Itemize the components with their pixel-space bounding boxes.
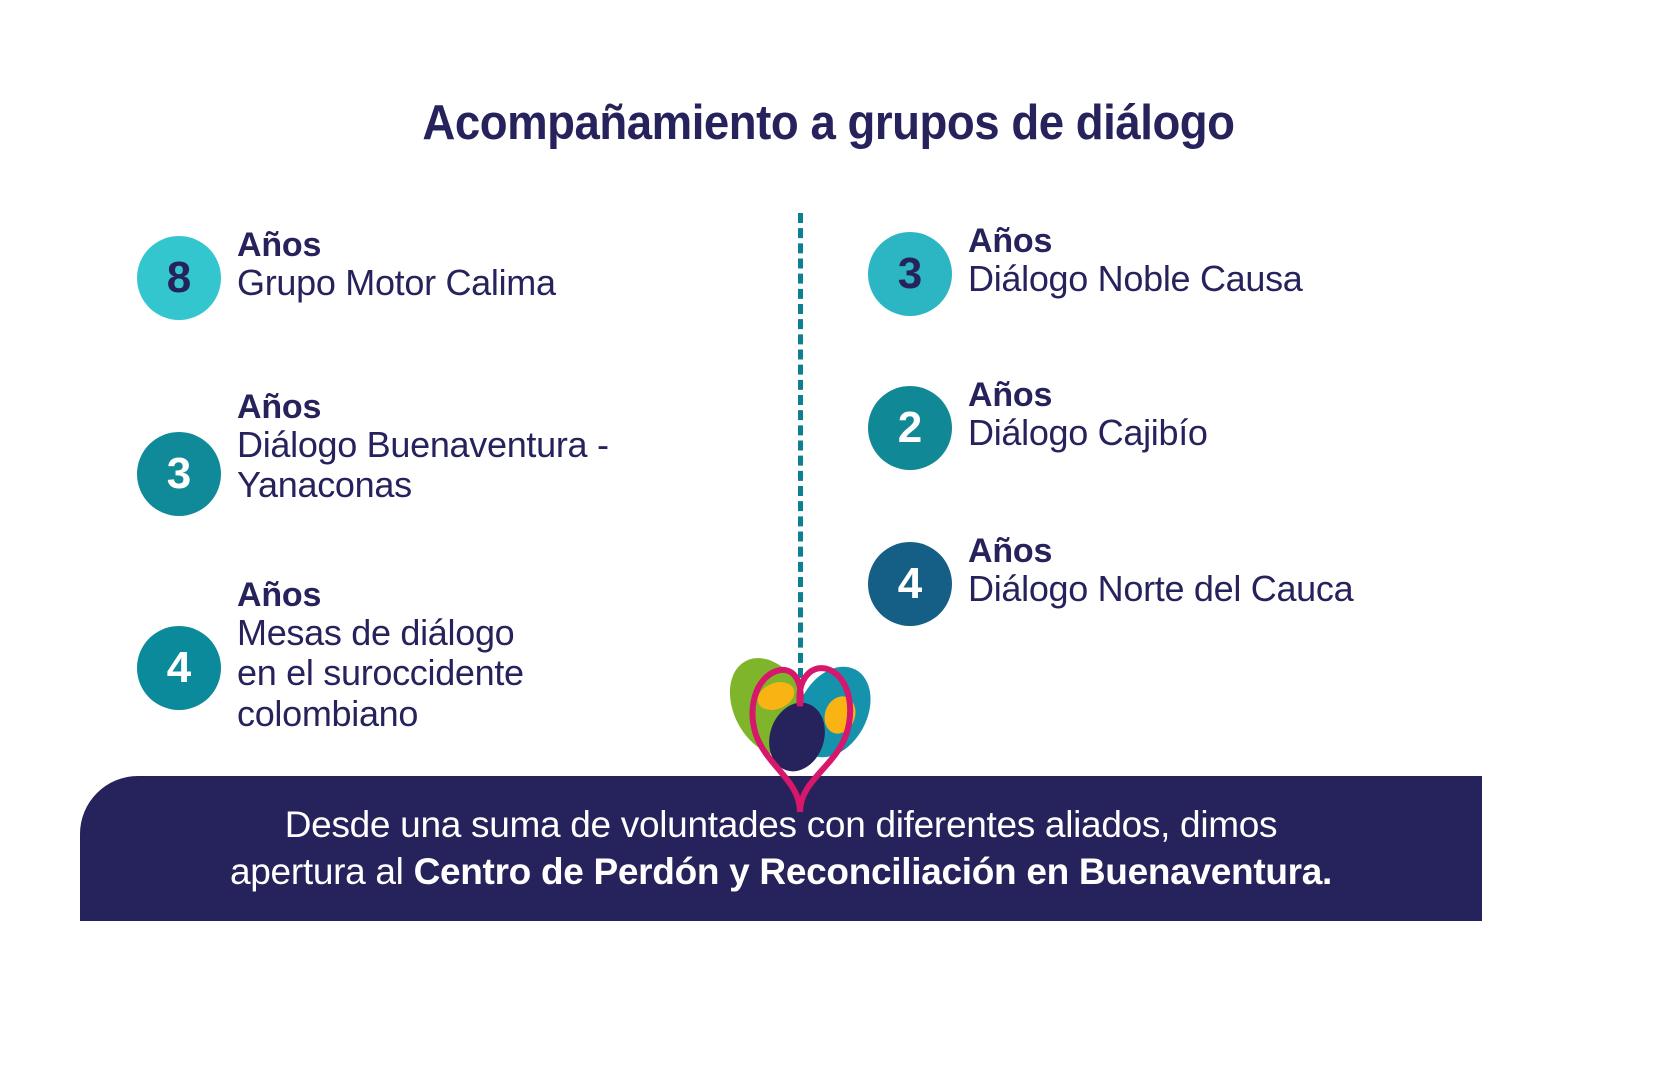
- infographic-root: Acompañamiento a grupos de diálogo 8 Año…: [0, 0, 1657, 1081]
- list-item: 3 Años Diálogo Buenaventura - Yanaconas: [137, 388, 757, 516]
- item-description: Diálogo Cajibío: [968, 413, 1208, 453]
- item-description: Grupo Motor Calima: [237, 263, 556, 303]
- logo-svg: [700, 634, 900, 849]
- list-item: 2 Años Diálogo Cajibío: [868, 376, 1508, 470]
- list-item: 8 Años Grupo Motor Calima: [137, 226, 757, 320]
- years-label: Años: [237, 227, 556, 263]
- years-label: Años: [237, 577, 524, 613]
- years-label: Años: [968, 377, 1208, 413]
- list-item-text: Años Mesas de diálogo en el suroccidente…: [237, 576, 524, 734]
- list-item: 4 Años Diálogo Norte del Cauca: [868, 532, 1508, 626]
- years-badge: 8: [137, 236, 221, 320]
- page-title: Acompañamiento a grupos de diálogo: [58, 95, 1599, 151]
- item-description: Mesas de diálogo en el suroccidente colo…: [237, 613, 524, 734]
- right-column: 3 Años Diálogo Noble Causa 2 Años Diálog…: [868, 212, 1508, 626]
- list-item-text: Años Diálogo Norte del Cauca: [968, 532, 1353, 609]
- years-badge: 2: [868, 386, 952, 470]
- years-badge: 3: [868, 232, 952, 316]
- list-item-text: Años Diálogo Cajibío: [968, 376, 1208, 453]
- vertical-dashed-divider: [798, 213, 803, 678]
- item-description: Diálogo Noble Causa: [968, 259, 1303, 299]
- list-item: 3 Años Diálogo Noble Causa: [868, 222, 1508, 316]
- years-label: Años: [968, 533, 1353, 569]
- list-item: 4 Años Mesas de diálogo en el surocciden…: [137, 576, 757, 734]
- years-badge: 3: [137, 432, 221, 516]
- list-item-text: Años Diálogo Buenaventura - Yanaconas: [237, 388, 609, 506]
- years-badge: 4: [137, 626, 221, 710]
- left-column: 8 Años Grupo Motor Calima 3 Años Diálogo…: [137, 212, 757, 734]
- footer-banner-bottom: [80, 880, 1482, 921]
- years-label: Años: [237, 389, 609, 425]
- heart-leaves-logo: [700, 634, 900, 849]
- list-item-text: Años Diálogo Noble Causa: [968, 222, 1303, 299]
- list-item-text: Años Grupo Motor Calima: [237, 226, 556, 303]
- years-badge: 4: [868, 542, 952, 626]
- item-description: Diálogo Norte del Cauca: [968, 569, 1353, 609]
- years-label: Años: [968, 223, 1303, 259]
- item-description: Diálogo Buenaventura - Yanaconas: [237, 425, 609, 506]
